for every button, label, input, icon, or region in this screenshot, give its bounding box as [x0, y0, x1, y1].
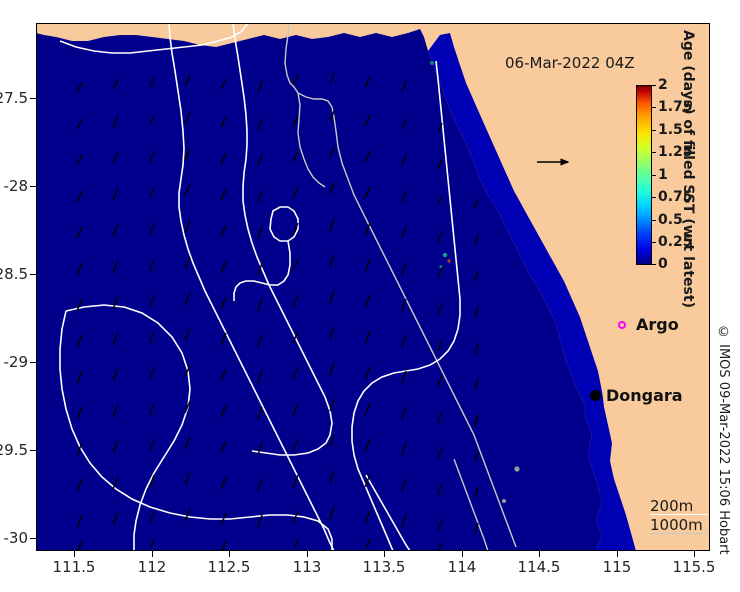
x-tick-label: 115.5: [673, 558, 716, 576]
colorbar-tick: [652, 107, 656, 108]
colorbar-tick: [652, 175, 656, 176]
argo-legend-label: Argo: [636, 315, 679, 334]
y-tick: [30, 186, 36, 187]
map-svg: [36, 23, 710, 551]
colorbar-tick-label: 1: [658, 167, 668, 183]
colorbar-tick-label: 2: [658, 77, 668, 93]
depth-legend-label: 1000m: [650, 516, 703, 534]
y-tick-label: -28: [4, 177, 29, 195]
colorbar-tick: [652, 242, 656, 243]
y-tick-label: -30: [4, 529, 29, 547]
y-tick-label: -29.5: [0, 441, 28, 459]
colorbar-title: Age (days) of filled SST (wrt latest): [676, 30, 696, 280]
colorbar-tick: [652, 130, 656, 131]
x-tick-label: 115: [603, 558, 632, 576]
colorbar-tick-label: 0: [658, 256, 668, 272]
x-tick: [617, 551, 618, 557]
depth-legend-row-200m: 200m: [650, 497, 703, 516]
x-tick: [229, 551, 230, 557]
colorbar-tick: [652, 85, 656, 86]
reef-marker: [443, 253, 447, 257]
x-tick-label: 114.5: [518, 558, 561, 576]
dongara-label: Dongara: [606, 386, 683, 405]
y-tick: [30, 274, 36, 275]
x-tick: [152, 551, 153, 557]
reef-marker: [447, 259, 450, 262]
colorbar-tick: [652, 220, 656, 221]
x-tick: [74, 551, 75, 557]
date-stamp: 06-Mar-2022 04Z: [505, 54, 635, 72]
reef-marker: [502, 499, 506, 503]
depth-legend-row-1000m: 1000m: [650, 516, 703, 535]
colorbar-tick: [652, 264, 656, 265]
x-tick-label: 112: [138, 558, 167, 576]
colorbar-gradient: [636, 85, 652, 265]
depth-contour-legend: 200m 1000m: [650, 497, 703, 535]
map-plot-area[interactable]: 06-Mar-2022 04Z NRT00 GSL 06-Mar 06:00Z …: [36, 23, 710, 551]
y-tick-label: -27.5: [0, 89, 28, 107]
reef-marker: [430, 61, 434, 65]
x-tick-label: 113: [293, 558, 322, 576]
y-tick: [30, 98, 36, 99]
colorbar-tick: [652, 197, 656, 198]
y-tick: [30, 450, 36, 451]
x-tick: [539, 551, 540, 557]
y-tick-label: -28.5: [0, 265, 28, 283]
x-tick: [462, 551, 463, 557]
x-tick-label: 112.5: [208, 558, 251, 576]
y-tick: [30, 538, 36, 539]
reef-marker: [514, 466, 519, 471]
dongara-place-marker: Dongara: [590, 386, 683, 405]
x-tick: [694, 551, 695, 557]
x-tick-label: 114: [448, 558, 477, 576]
depth-legend-label: 200m: [650, 497, 693, 515]
x-tick: [384, 551, 385, 557]
colorbar-tick: [652, 152, 656, 153]
x-tick-label: 111.5: [53, 558, 96, 576]
argo-marker-icon: [618, 321, 626, 329]
x-tick-label: 113.5: [363, 558, 406, 576]
y-tick: [30, 362, 36, 363]
y-tick-label: -29: [4, 353, 29, 371]
x-tick: [307, 551, 308, 557]
copyright-credit: © IMOS 09-Mar-2022 15:06 Hobart: [716, 325, 731, 555]
figure-canvas: 06-Mar-2022 04Z NRT00 GSL 06-Mar 06:00Z …: [0, 0, 740, 592]
argo-legend-item: Argo: [618, 315, 679, 334]
right-arrow-icon: [536, 156, 576, 168]
dongara-dot-icon: [590, 390, 601, 401]
colorbar[interactable]: 2 1.75 1.5 1.25 1 0.75 0.5 0.25 0: [636, 85, 652, 265]
